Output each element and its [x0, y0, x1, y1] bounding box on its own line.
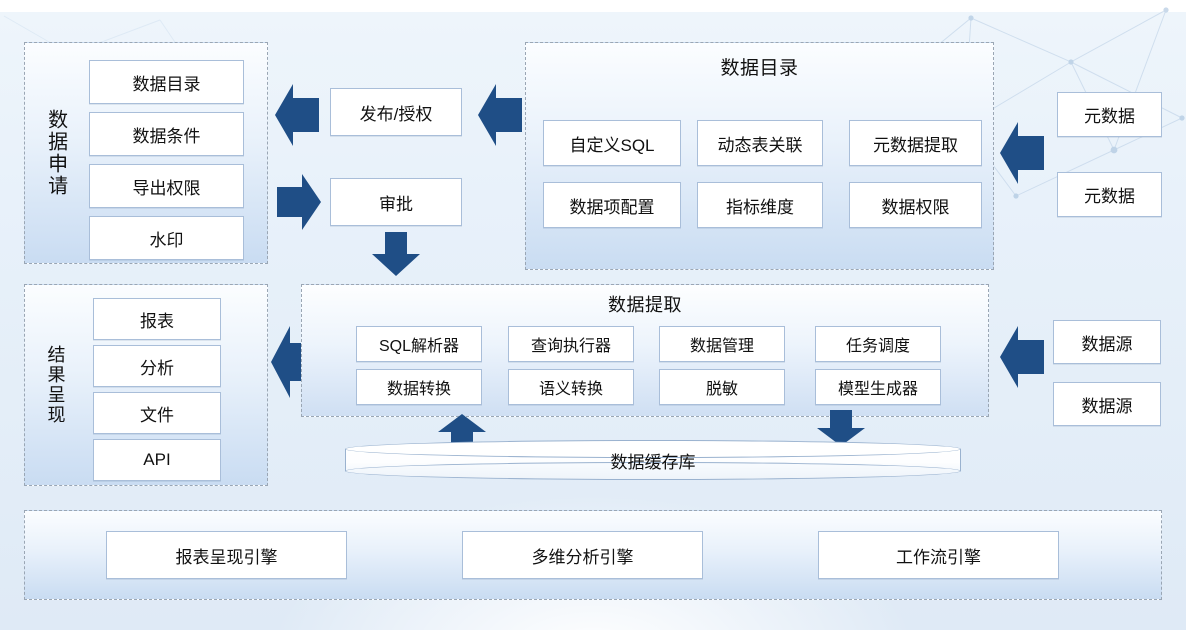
extract-item-sql-parser[interactable]: SQL解析器	[356, 326, 482, 362]
arrow-left-publish-icon	[275, 84, 319, 146]
data-source-2[interactable]: 数据源	[1053, 382, 1161, 426]
result-item-report[interactable]: 报表	[93, 298, 221, 340]
apply-item-watermark[interactable]: 水印	[89, 216, 244, 260]
arrow-down-flow-icon	[372, 232, 420, 276]
metadata-source-1[interactable]: 元数据	[1057, 92, 1162, 137]
engine-multidimensional-analysis[interactable]: 多维分析引擎	[462, 531, 703, 579]
engine-report-presentation[interactable]: 报表呈现引擎	[106, 531, 347, 579]
extract-item-data-transform[interactable]: 数据转换	[356, 369, 482, 405]
diagram-canvas: 数据申请 数据目录 数据条件 导出权限 水印 发布/授权 审批 数据目录 自定义…	[0, 0, 1186, 630]
apply-item-data-condition[interactable]: 数据条件	[89, 112, 244, 156]
data-cache-cylinder[interactable]: 数据缓存库	[345, 440, 961, 480]
engine-workflow[interactable]: 工作流引擎	[818, 531, 1059, 579]
result-item-api[interactable]: API	[93, 439, 221, 481]
extract-item-query-executor[interactable]: 查询执行器	[508, 326, 634, 362]
extract-item-data-management[interactable]: 数据管理	[659, 326, 785, 362]
approve-box[interactable]: 审批	[330, 178, 462, 226]
catalog-panel-title: 数据目录	[526, 53, 993, 80]
metadata-source-2[interactable]: 元数据	[1057, 172, 1162, 217]
catalog-item-metric-dimension[interactable]: 指标维度	[697, 182, 823, 228]
data-source-1[interactable]: 数据源	[1053, 320, 1161, 364]
arrow-left-datasource-icon	[1000, 326, 1044, 388]
result-item-file[interactable]: 文件	[93, 392, 221, 434]
extract-item-desensitization[interactable]: 脱敏	[659, 369, 785, 405]
apply-panel-vertical-label: 数据申请	[33, 43, 77, 263]
arrow-left-metadata-icon	[1000, 122, 1044, 184]
result-panel-vertical-label: 结果呈现	[33, 285, 77, 485]
catalog-item-data-field-config[interactable]: 数据项配置	[543, 182, 681, 228]
arrow-right-approve-icon	[277, 174, 321, 230]
extract-panel-title: 数据提取	[302, 291, 988, 317]
extract-item-semantic-transform[interactable]: 语义转换	[508, 369, 634, 405]
arrow-left-catalog-out-icon	[478, 84, 522, 146]
catalog-item-custom-sql[interactable]: 自定义SQL	[543, 120, 681, 166]
catalog-item-data-permission[interactable]: 数据权限	[849, 182, 982, 228]
extract-item-model-generator[interactable]: 模型生成器	[815, 369, 941, 405]
extract-item-task-scheduling[interactable]: 任务调度	[815, 326, 941, 362]
apply-item-export-permission[interactable]: 导出权限	[89, 164, 244, 208]
result-item-analysis[interactable]: 分析	[93, 345, 221, 387]
publish-authorize-box[interactable]: 发布/授权	[330, 88, 462, 136]
catalog-item-dynamic-table-join[interactable]: 动态表关联	[697, 120, 823, 166]
catalog-item-metadata-extraction[interactable]: 元数据提取	[849, 120, 982, 166]
data-cache-label: 数据缓存库	[345, 440, 961, 480]
apply-item-data-catalog[interactable]: 数据目录	[89, 60, 244, 104]
